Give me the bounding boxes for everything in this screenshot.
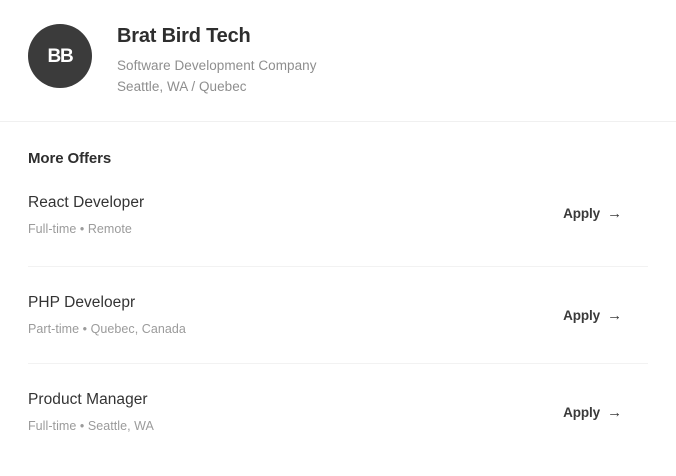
arrow-right-icon: →	[607, 206, 622, 221]
section-title-more-offers: More Offers	[28, 121, 648, 167]
offer-list: React Developer Full-time • Remote Apply…	[28, 185, 648, 460]
company-location: Seattle, WA / Quebec	[117, 77, 317, 98]
apply-button-label: Apply	[563, 308, 600, 323]
offer-title: PHP Develoepr	[28, 293, 186, 313]
more-offers-section: More Offers React Developer Full-time • …	[0, 121, 676, 460]
offer-meta: Full-time • Remote	[28, 221, 144, 237]
offer-row[interactable]: Product Manager Full-time • Seattle, WA …	[28, 363, 648, 460]
offer-row[interactable]: PHP Develoepr Part-time • Quebec, Canada…	[28, 266, 648, 363]
offer-text: PHP Develoepr Part-time • Quebec, Canada	[28, 293, 186, 337]
avatar-initials: BB	[47, 47, 72, 66]
avatar: BB	[28, 24, 92, 88]
company-industry: Software Development Company	[117, 56, 317, 77]
apply-button-label: Apply	[563, 206, 600, 221]
apply-button-label: Apply	[563, 405, 600, 420]
company-name: Brat Bird Tech	[117, 24, 317, 49]
apply-button[interactable]: Apply →	[563, 405, 622, 420]
offer-meta: Part-time • Quebec, Canada	[28, 321, 186, 337]
offer-text: Product Manager Full-time • Seattle, WA	[28, 390, 154, 434]
company-profile-page: BB Brat Bird Tech Software Development C…	[0, 0, 676, 476]
offer-title: Product Manager	[28, 390, 154, 410]
arrow-right-icon: →	[607, 308, 622, 323]
header-divider	[0, 121, 676, 122]
arrow-right-icon: →	[607, 405, 622, 420]
company-info: Brat Bird Tech Software Development Comp…	[117, 22, 317, 98]
apply-button[interactable]: Apply →	[563, 206, 622, 221]
offer-text: React Developer Full-time • Remote	[28, 193, 144, 237]
offer-title: React Developer	[28, 193, 144, 213]
offer-meta: Full-time • Seattle, WA	[28, 418, 154, 434]
apply-button[interactable]: Apply →	[563, 308, 622, 323]
offer-row[interactable]: React Developer Full-time • Remote Apply…	[28, 185, 648, 266]
company-header: BB Brat Bird Tech Software Development C…	[0, 0, 676, 121]
